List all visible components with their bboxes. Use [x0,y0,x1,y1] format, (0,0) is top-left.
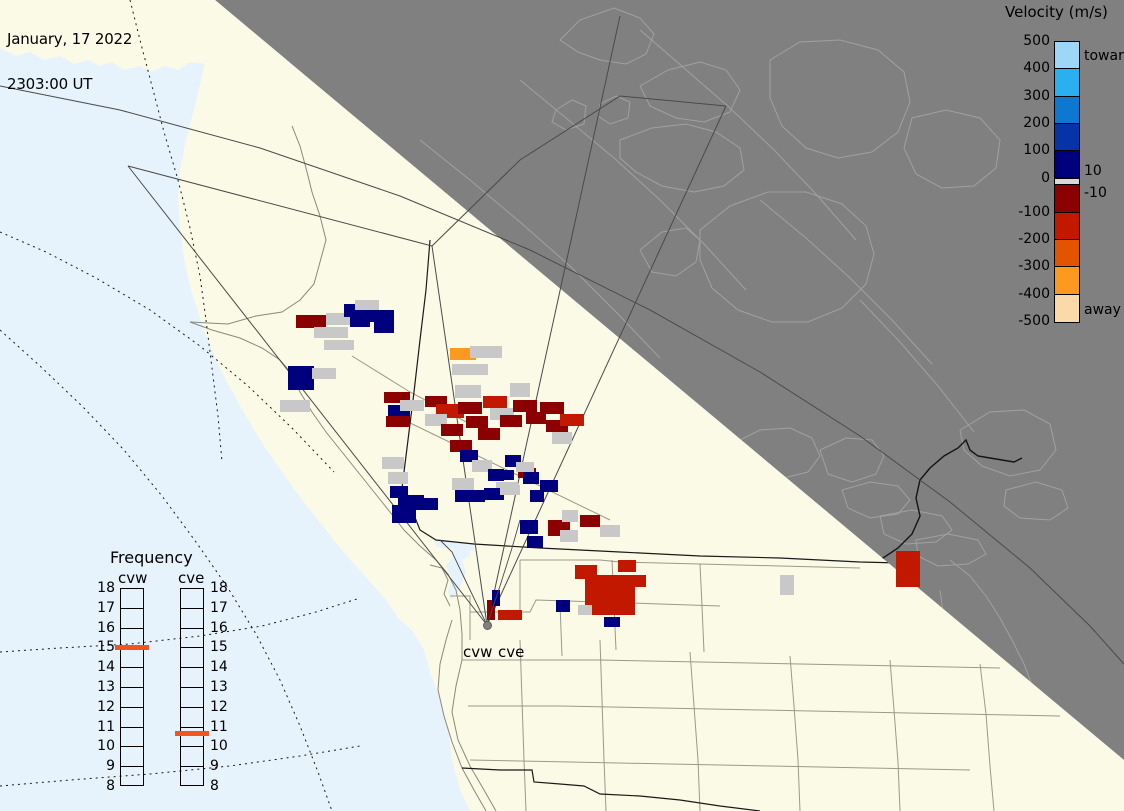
frequency-cell [181,668,203,688]
velocity-cell[interactable] [314,327,348,338]
velocity-cell[interactable] [324,340,354,350]
velocity-colorbar-segment [1055,267,1079,294]
velocity-inner-lower-label: -10 [1084,186,1107,200]
velocity-colorbar-segment [1055,213,1079,240]
station-label-cvw[interactable]: cvw [463,643,492,661]
velocity-cell[interactable] [366,310,394,322]
frequency-tick-label-right: 11 [210,720,228,734]
frequency-cell [121,648,143,668]
velocity-tick-label: 400 [1023,61,1050,75]
screenshot-root: January, 17 2022 2303:00 UT Velocity (m/… [0,0,1124,811]
velocity-tick-label: 100 [1023,143,1050,157]
velocity-cell[interactable] [552,432,572,444]
velocity-colorbar-segment [1055,240,1079,267]
frequency-column-label-cvw: cvw [118,569,147,587]
frequency-tick-label-left: 13 [93,680,115,694]
velocity-cell[interactable] [388,472,408,484]
velocity-tick-label: 200 [1023,116,1050,130]
velocity-cell[interactable] [540,480,558,492]
velocity-cell[interactable] [513,400,537,412]
velocity-cell[interactable] [600,525,620,537]
velocity-tick-label: -500 [1018,314,1050,328]
velocity-cell[interactable] [896,551,920,587]
frequency-tick-label-left: 17 [93,601,115,615]
frequency-cell [181,688,203,708]
frequency-tick-label-right: 12 [210,700,228,714]
velocity-colorbar-segment [1055,124,1079,151]
frequency-cell [121,767,143,787]
velocity-away-label: away [1084,303,1121,317]
frequency-tick-label-right: 17 [210,601,228,615]
frequency-tick-label-left: 16 [93,621,115,635]
velocity-cell[interactable] [560,530,578,542]
velocity-cell[interactable] [470,346,502,358]
frequency-tick-label-left: 12 [93,700,115,714]
velocity-cell[interactable] [483,396,507,408]
velocity-tick-label: 500 [1023,34,1050,48]
frequency-tick-label-left: 10 [93,739,115,753]
velocity-cell[interactable] [500,415,522,427]
velocity-cell[interactable] [386,416,410,427]
velocity-cell[interactable] [527,536,543,548]
frequency-tick-label-left: 14 [93,660,115,674]
station-label-cve[interactable]: cve [498,643,524,661]
velocity-inner-upper-label: 10 [1084,164,1102,178]
velocity-cell[interactable] [556,600,570,612]
frequency-tick-label-right: 18 [210,581,228,595]
velocity-cell[interactable] [578,605,592,615]
frequency-tick-label-right: 8 [210,779,219,793]
velocity-cell[interactable] [312,368,336,379]
frequency-cell [181,767,203,787]
frequency-tick-label-right: 16 [210,621,228,635]
velocity-cell[interactable] [441,424,463,436]
frequency-cell [121,708,143,728]
timestamp-time: 2303:00 UT [7,77,132,92]
velocity-tick-label: -100 [1018,205,1050,219]
frequency-cell [181,589,203,609]
velocity-cell[interactable] [510,383,530,397]
station-marker-dot[interactable] [483,621,492,630]
frequency-bar-cvw[interactable] [120,588,144,786]
velocity-tick-label: 300 [1023,89,1050,103]
frequency-cell [121,747,143,767]
velocity-legend-title: Velocity (m/s) [1005,3,1108,21]
velocity-cell[interactable] [562,510,578,522]
frequency-tick-label-left: 8 [93,779,115,793]
velocity-tick-label: -400 [1018,287,1050,301]
frequency-tick-label-right: 15 [210,640,228,654]
velocity-colorbar[interactable] [1054,41,1080,323]
velocity-cell[interactable] [400,400,424,411]
frequency-cell [181,629,203,649]
frequency-tick-label-left: 15 [93,640,115,654]
velocity-cell[interactable] [374,322,394,333]
velocity-colorbar-segment [1055,97,1079,124]
frequency-tick-label-right: 14 [210,660,228,674]
velocity-cell[interactable] [580,515,600,527]
velocity-cell[interactable] [604,617,620,627]
frequency-cell [121,589,143,609]
velocity-cell[interactable] [630,575,646,587]
velocity-cell[interactable] [478,428,500,440]
velocity-colorbar-null-band [1055,178,1079,185]
frequency-tick-label-right: 9 [210,759,219,773]
velocity-cell[interactable] [452,364,488,375]
frequency-cell [121,688,143,708]
frequency-cell [181,708,203,728]
velocity-cell[interactable] [500,485,520,495]
velocity-colorbar-segment [1055,69,1079,96]
frequency-tick-label-left: 11 [93,720,115,734]
frequency-legend: Frequency cvwcve181817171616151514141313… [95,548,245,803]
velocity-cell[interactable] [618,560,636,572]
velocity-colorbar-segment [1055,42,1079,69]
velocity-toward-label: toward [1084,49,1124,63]
frequency-cell [181,747,203,767]
frequency-column-label-cve: cve [178,569,204,587]
velocity-cell[interactable] [355,300,379,310]
velocity-tick-label: -200 [1018,232,1050,246]
velocity-cell[interactable] [488,469,504,481]
velocity-cell[interactable] [523,472,539,484]
velocity-cell[interactable] [414,498,438,510]
velocity-tick-label: 0 [1041,171,1050,185]
frequency-cell [181,609,203,629]
velocity-legend: Velocity (m/s) 5004003002001000-100-200-… [1002,3,1124,333]
frequency-legend-title: Frequency [110,548,193,567]
velocity-cell[interactable] [516,462,534,472]
velocity-cell[interactable] [575,565,597,579]
velocity-colorbar-segment [1055,185,1079,212]
velocity-cell[interactable] [288,366,314,390]
frequency-tick-label-right: 10 [210,739,228,753]
frequency-marker-cve [175,731,209,736]
velocity-cell[interactable] [498,610,522,620]
velocity-cell[interactable] [780,575,794,595]
velocity-cell[interactable] [455,385,481,398]
velocity-cell[interactable] [466,416,488,428]
velocity-cell[interactable] [452,478,474,490]
velocity-colorbar-segment [1055,295,1079,322]
velocity-cell[interactable] [458,402,482,414]
velocity-tick-label: -300 [1018,259,1050,273]
velocity-cell[interactable] [560,414,584,426]
frequency-bar-cve[interactable] [180,588,204,786]
frequency-cell [121,609,143,629]
frequency-tick-label-left: 18 [93,581,115,595]
velocity-cell[interactable] [280,400,310,412]
velocity-cell[interactable] [540,402,564,414]
frequency-tick-label-left: 9 [93,759,115,773]
frequency-cell [181,648,203,668]
velocity-cell[interactable] [296,315,326,328]
timestamp-date: January, 17 2022 [7,32,132,47]
frequency-cell [121,668,143,688]
frequency-tick-label-right: 13 [210,680,228,694]
frequency-marker-cvw [115,645,149,650]
velocity-cell[interactable] [585,575,635,615]
velocity-cell[interactable] [520,520,538,534]
velocity-cell[interactable] [455,490,485,502]
timestamp-block: January, 17 2022 2303:00 UT [7,2,132,122]
velocity-cell[interactable] [382,457,404,469]
velocity-colorbar-segment [1055,151,1079,178]
frequency-cell [121,728,143,748]
velocity-cell[interactable] [392,505,416,523]
